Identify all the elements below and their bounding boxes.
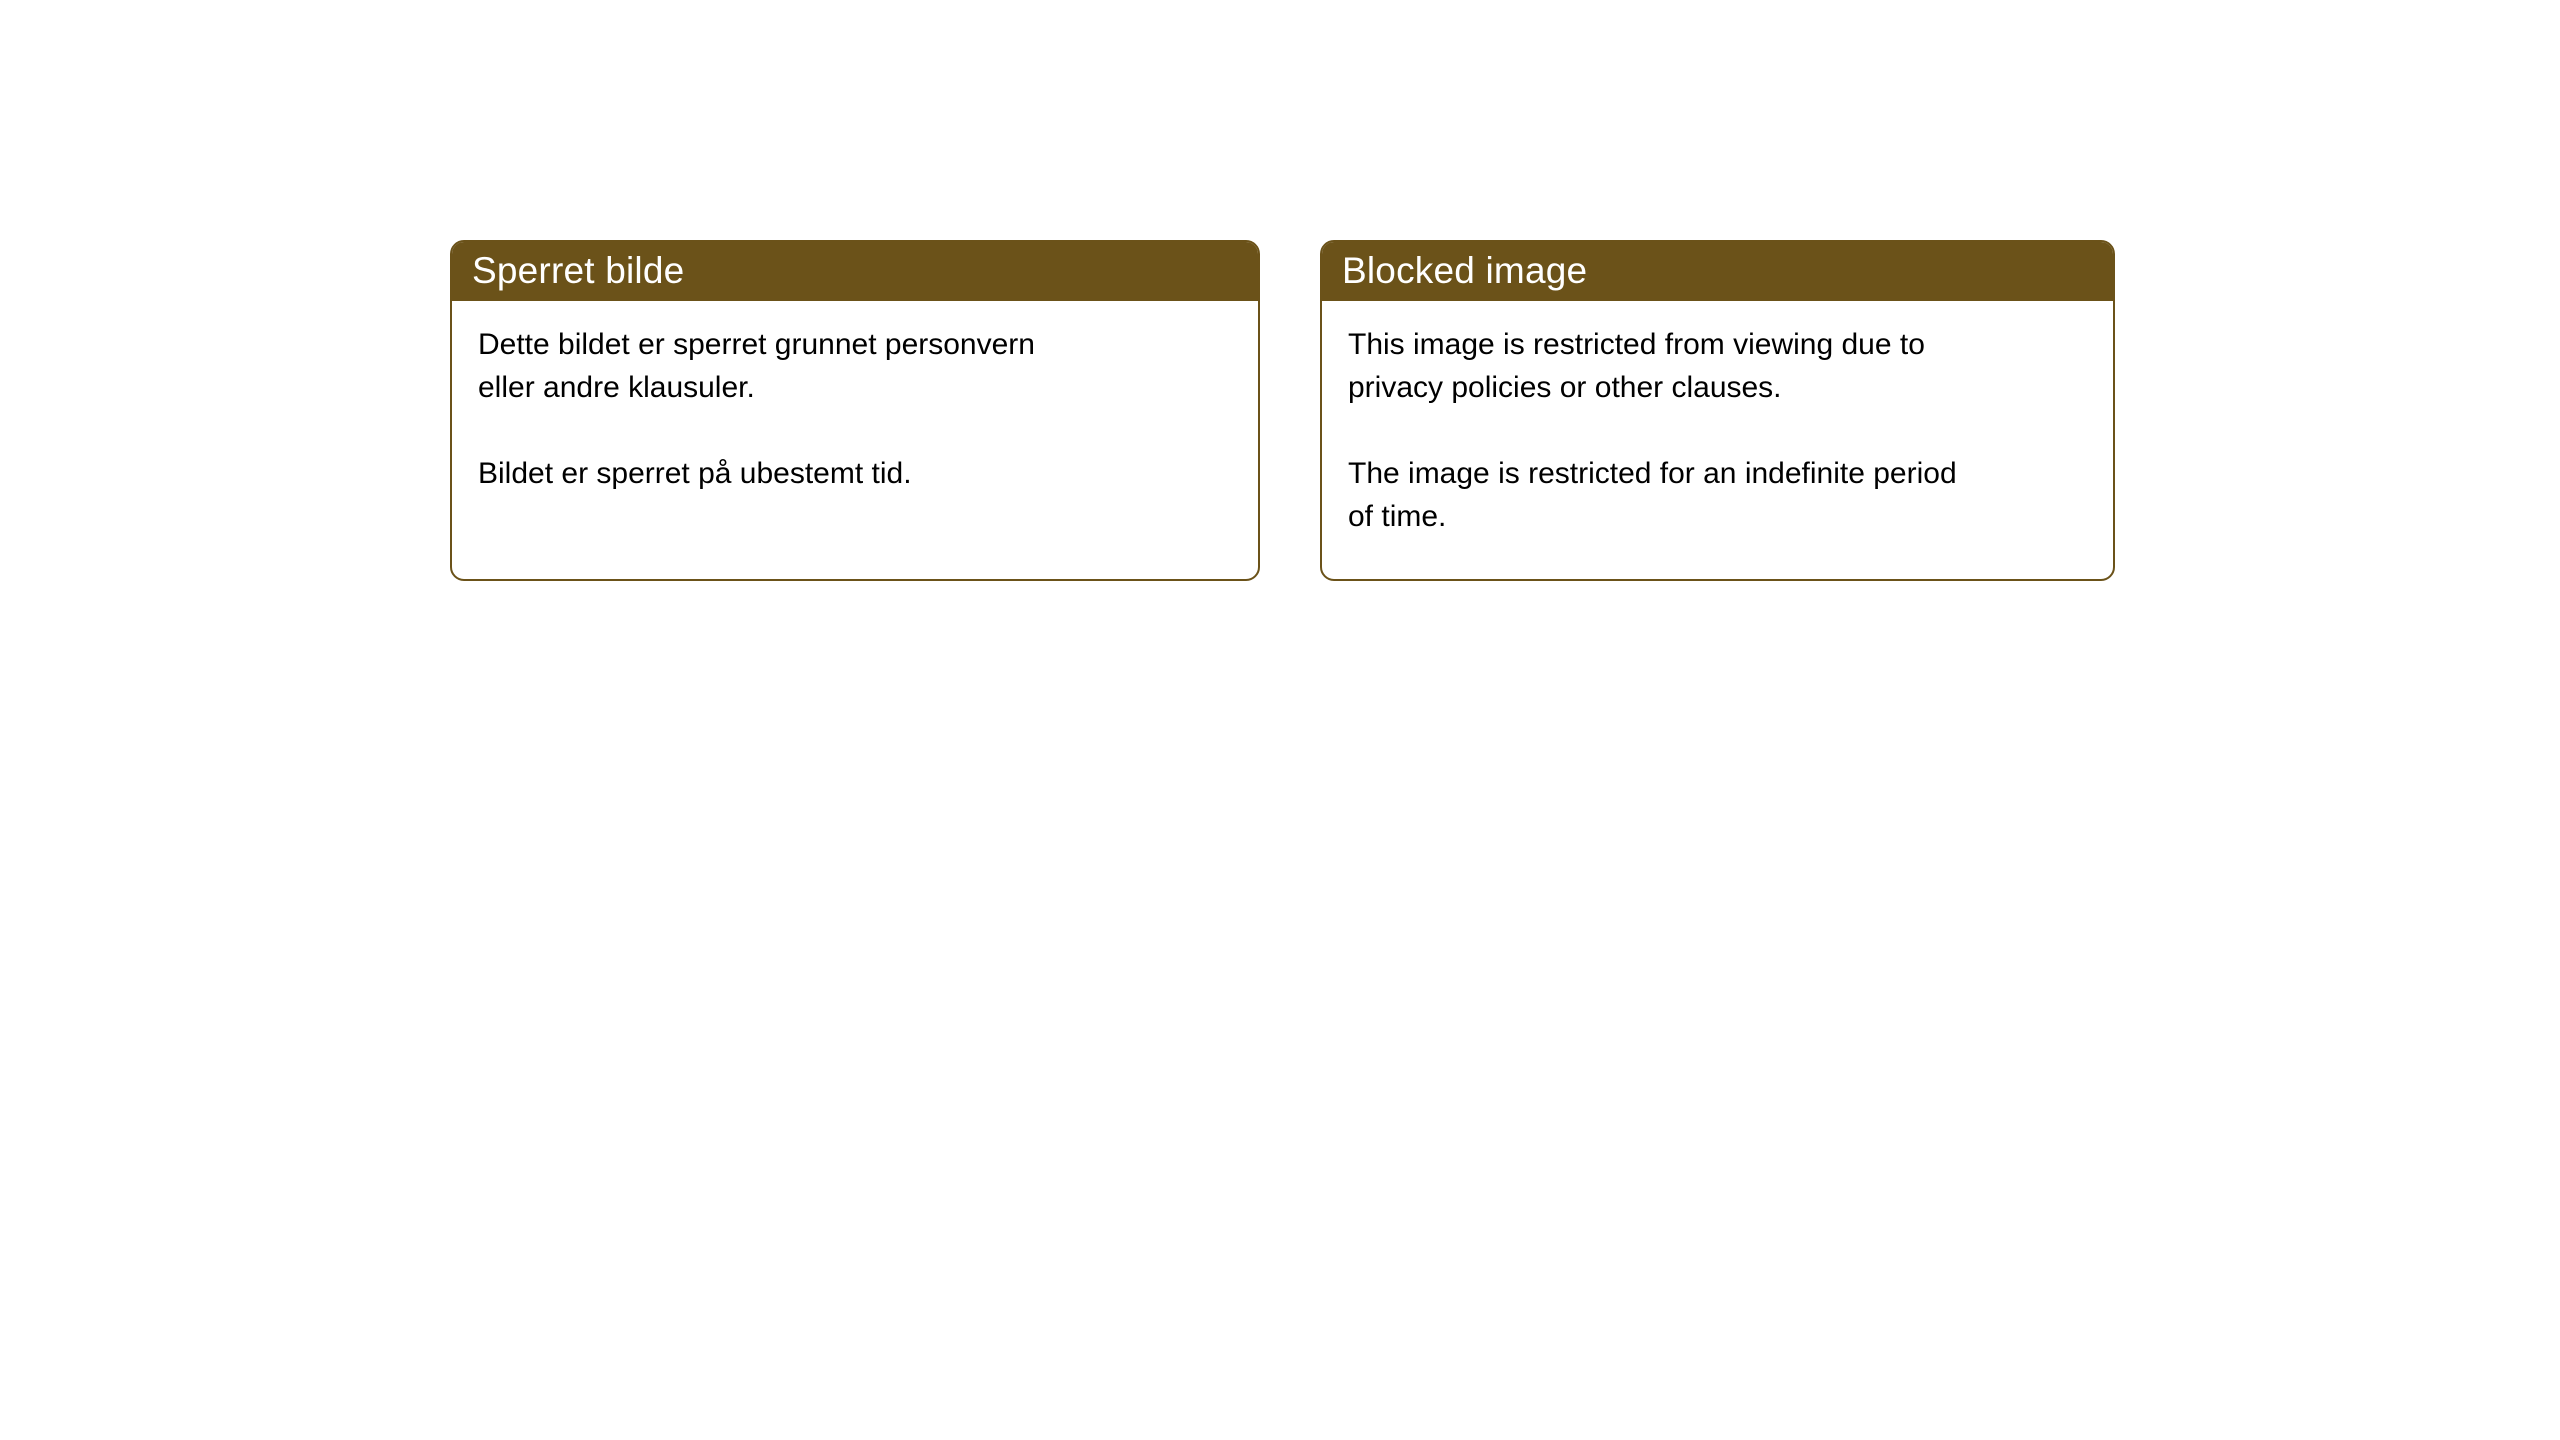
panel-paragraph-en-1: This image is restricted from viewing du… (1348, 323, 2087, 409)
blocked-image-notice-en: Blocked image This image is restricted f… (1320, 240, 2115, 581)
panel-paragraph-no-2: Bildet er sperret på ubestemt tid. (478, 452, 1232, 495)
panel-paragraph-en-2: The image is restricted for an indefinit… (1348, 452, 2087, 538)
panel-paragraph-no-1: Dette bildet er sperret grunnet personve… (478, 323, 1232, 409)
page-root: Sperret bilde Dette bildet er sperret gr… (0, 0, 2560, 1440)
panel-header-no: Sperret bilde (450, 240, 1260, 301)
panel-title-no: Sperret bilde (472, 252, 684, 289)
blocked-image-notice-no: Sperret bilde Dette bildet er sperret gr… (450, 240, 1260, 581)
panel-header-en: Blocked image (1320, 240, 2115, 301)
panel-body-no: Dette bildet er sperret grunnet personve… (452, 301, 1258, 495)
panel-body-en: This image is restricted from viewing du… (1322, 301, 2113, 538)
panel-title-en: Blocked image (1342, 252, 1587, 289)
